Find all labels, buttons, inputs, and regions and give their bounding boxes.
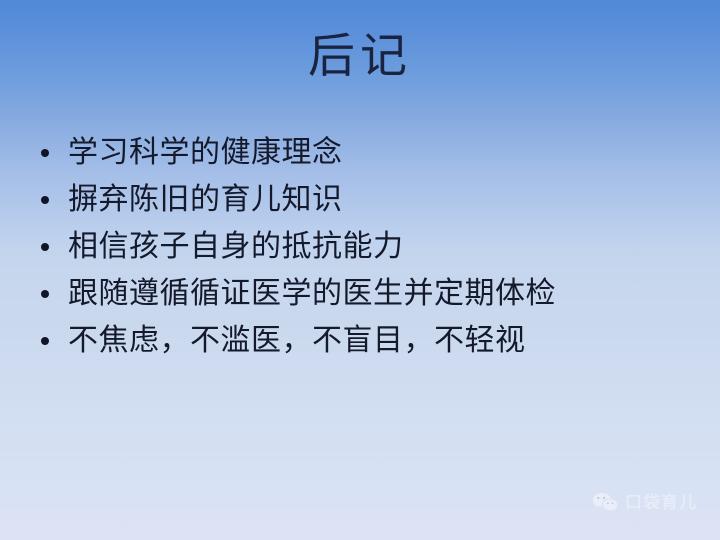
page-title: 后记 <box>0 31 720 83</box>
watermark-label: 口袋育儿 <box>625 493 697 513</box>
list-item: 不焦虑，不滥医，不盲目，不轻视 <box>38 317 678 364</box>
bullet-dot-icon <box>41 337 49 345</box>
list-item: 跟随遵循循证医学的医生并定期体检 <box>38 270 678 317</box>
list-item-label: 不焦虑，不滥医，不盲目，不轻视 <box>68 324 526 358</box>
bullet-dot-icon <box>41 243 49 251</box>
bullet-dot-icon <box>41 196 49 204</box>
list-item-label: 学习科学的健康理念 <box>68 136 343 170</box>
list-item-label: 跟随遵循循证医学的医生并定期体检 <box>68 277 556 311</box>
list-item-label: 相信孩子自身的抵抗能力 <box>68 230 404 264</box>
wechat-icon <box>592 492 618 513</box>
bullet-dot-icon <box>41 149 49 157</box>
list-item-label: 摒弃陈旧的育儿知识 <box>68 183 343 217</box>
list-item: 学习科学的健康理念 <box>38 129 678 176</box>
watermark: 口袋育儿 <box>592 492 697 513</box>
bullet-list: 学习科学的健康理念 摒弃陈旧的育儿知识 相信孩子自身的抵抗能力 跟随遵循循证医学… <box>38 129 678 364</box>
presentation-slide: 后记 学习科学的健康理念 摒弃陈旧的育儿知识 相信孩子自身的抵抗能力 跟随遵循循… <box>0 0 720 540</box>
list-item: 摒弃陈旧的育儿知识 <box>38 176 678 223</box>
list-item: 相信孩子自身的抵抗能力 <box>38 223 678 270</box>
bullet-dot-icon <box>41 290 49 298</box>
